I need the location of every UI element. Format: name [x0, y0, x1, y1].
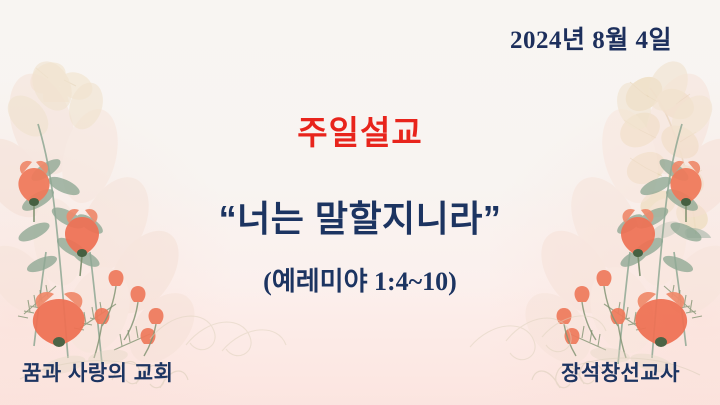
speaker-name: 장석창선교사	[561, 357, 680, 387]
sermon-slide: 2024년 8월 4일 주일설교 “너는 말할지니라” (예레미야 1:4~10…	[0, 0, 720, 405]
date-text: 2024년 8월 4일	[510, 20, 672, 56]
scripture-reference: (예레미야 1:4~10)	[0, 261, 720, 298]
sermon-title: “너는 말할지니라”	[0, 190, 720, 242]
sermon-label: 주일설교	[0, 106, 720, 154]
church-name: 꿈과 사랑의 교회	[22, 357, 173, 387]
